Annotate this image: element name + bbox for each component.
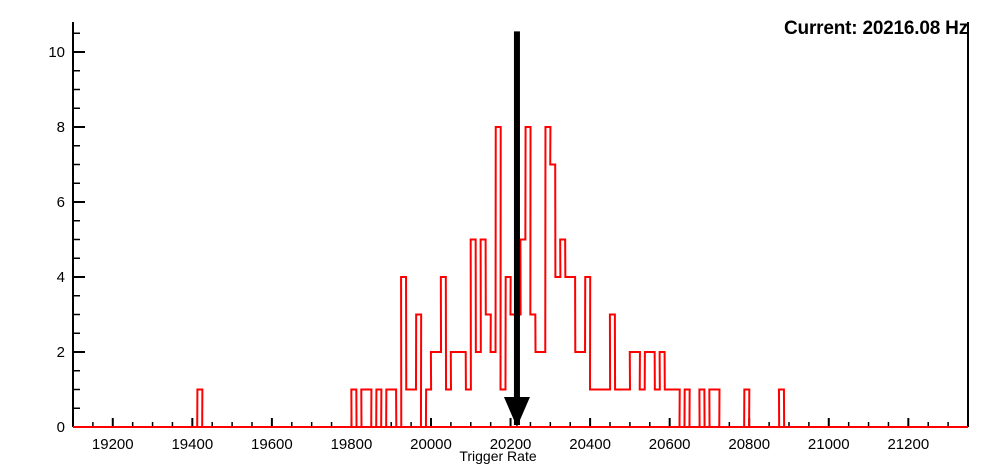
y-tick-label: 8: [57, 119, 65, 136]
axes-group: 1920019400196001980020000202002040020600…: [48, 22, 968, 453]
y-tick-label: 6: [57, 194, 65, 211]
x-axis-title: Trigger Rate: [0, 448, 996, 464]
y-tick-label: 2: [57, 344, 65, 361]
histogram-outline: [73, 127, 968, 427]
histogram-canvas: 1920019400196001980020000202002040020600…: [0, 0, 996, 472]
histogram-step-path: [73, 127, 968, 427]
current-rate-label: Current: 20216.08 Hz: [784, 18, 968, 40]
y-tick-label: 10: [48, 44, 65, 61]
arrow-head: [504, 397, 530, 427]
trigger-rate-histogram: 1920019400196001980020000202002040020600…: [0, 0, 996, 472]
y-tick-label: 4: [57, 269, 65, 286]
y-tick-label: 0: [57, 419, 65, 436]
